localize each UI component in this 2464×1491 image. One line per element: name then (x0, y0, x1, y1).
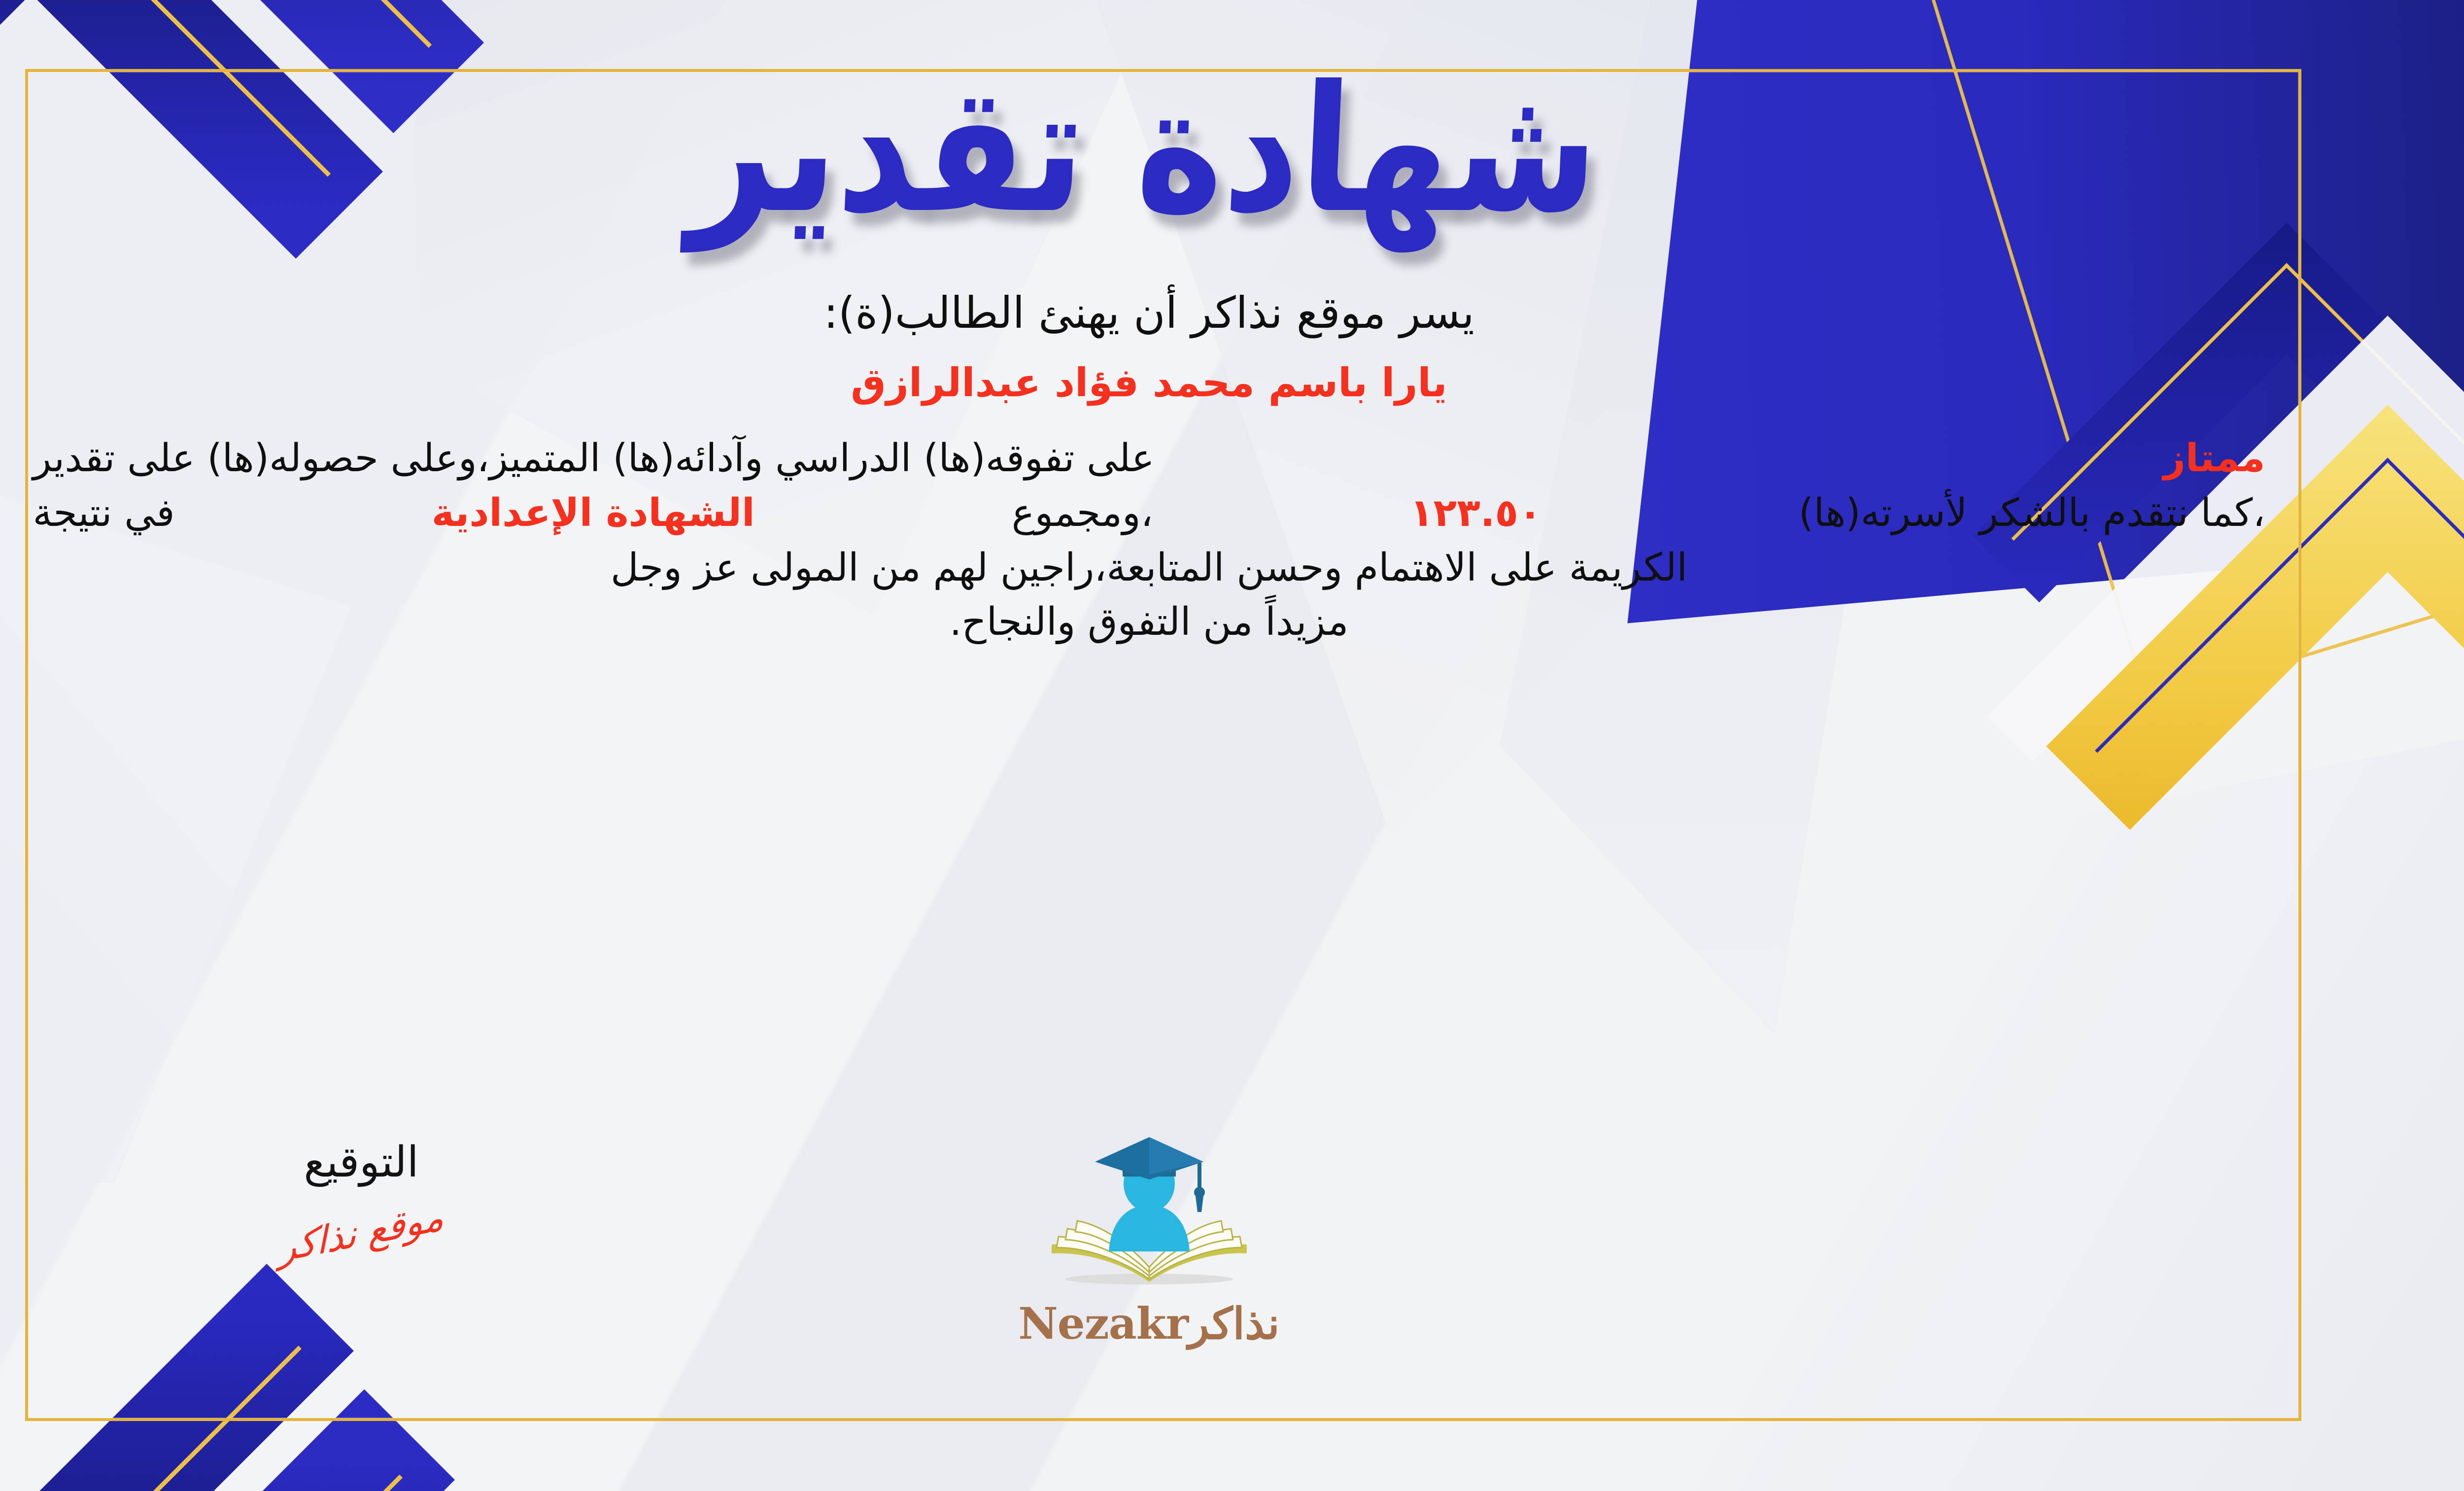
citation-line-2-mid: ،ومجموع (1012, 486, 1153, 541)
citation-line-1: ممتاز على تفوقه(ها) الدراسي وآدائه(ها) ا… (33, 431, 2265, 486)
citation-line-4: مزيداً من التفوق والنجاح. (33, 595, 2265, 650)
greeting-line: يسر موقع نذاكر أن يهنئ الطالب(ة): (823, 287, 1474, 338)
grade-value: ممتاز (2163, 431, 2265, 486)
certificate-title: شهادة تقدير (687, 58, 1603, 242)
brand-logo-block: Nezakrنذاكر (962, 1131, 1336, 1345)
graduate-open-book-logo-icon (1026, 1131, 1272, 1299)
exam-name-value: الشهادة الإعدادية (432, 486, 755, 541)
signature-label: التوقيع (208, 1141, 514, 1183)
citation-line-2-head: في نتيجة (33, 486, 175, 541)
citation-line-3: الكريمة على الاهتمام وحسن المتابعة،راجين… (33, 541, 2265, 595)
certificate-footer: التوقيع موقع نذاكر (0, 1131, 2464, 1407)
citation-paragraph: ممتاز على تفوقه(ها) الدراسي وآدائه(ها) ا… (33, 431, 2265, 650)
citation-line-2-tail: ،كما نتقدم بالشكر لأسرته(ها) (1799, 486, 2265, 541)
signature-handwriting: موقع نذاكر (278, 1198, 445, 1268)
citation-line-1-text: على تفوقه(ها) الدراسي وآدائه(ها) المتميز… (33, 431, 1155, 486)
brand-name-arabic: نذاكر (1188, 1298, 1280, 1349)
brand-name-latin: Nezakr (1018, 1298, 1188, 1349)
citation-line-2: ،كما نتقدم بالشكر لأسرته(ها) ١٢٣.٥٠ ،ومج… (33, 486, 2265, 541)
certificate-canvas: شهادة تقدير يسر موقع نذاكر أن يهنئ الطال… (0, 0, 2464, 1491)
student-name: يارا باسم محمد فؤاد عبدالرازق (851, 360, 1447, 406)
brand-logo-text: Nezakrنذاكر (962, 1302, 1336, 1345)
signature-block: التوقيع موقع نذاكر (208, 1141, 514, 1251)
total-score-value: ١٢٣.٥٠ (1410, 486, 1542, 541)
